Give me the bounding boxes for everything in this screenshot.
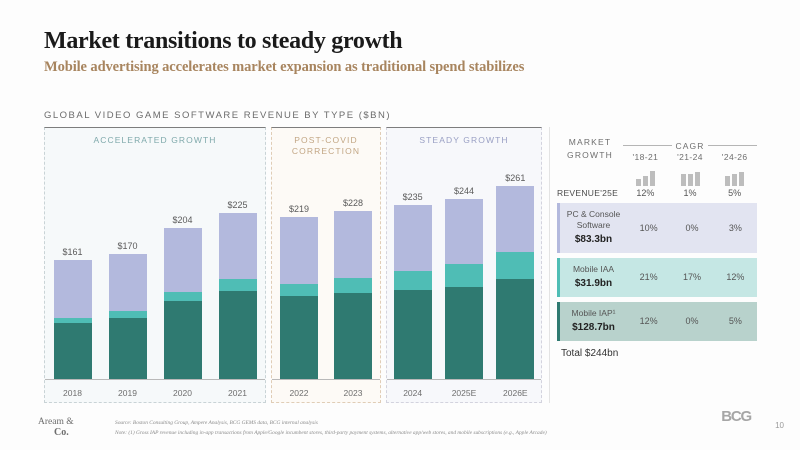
bar-segment — [219, 213, 257, 279]
cagr-period: '24-26 — [712, 152, 757, 162]
cagr-title: CAGR — [676, 141, 705, 151]
bar-group: $170 — [100, 174, 155, 380]
rule-left — [623, 145, 672, 146]
row-cagr-value: 21% — [627, 272, 670, 282]
footnotes: Source: Boston Consulting Group, Ampere … — [115, 418, 715, 438]
bar-segment — [280, 217, 318, 284]
x-axis-tick: 2018 — [45, 388, 100, 398]
revenue-values: 12%1%5% — [623, 188, 757, 198]
plot-area-3: $235$244$261 — [387, 174, 541, 380]
bar-segment — [394, 290, 432, 380]
bar-group: $235 — [387, 174, 438, 380]
phase-label: POST-COVID CORRECTION — [272, 135, 380, 158]
row-cagr-value: 17% — [670, 272, 713, 282]
stacked-bar — [394, 205, 432, 380]
table-row[interactable]: PC & ConsoleSoftware$83.3bn10%0%3% — [557, 203, 757, 253]
axis-line-3 — [387, 379, 541, 380]
cagr-period-columns: '18-21'21-24'24-26 — [623, 152, 757, 162]
plot-area-2: $219$228 — [272, 174, 380, 380]
phase-panel-accelerated-growth: ACCELERATED GROWTH $161$170$204$225 2018… — [44, 127, 266, 403]
table-total: Total $244bn — [557, 348, 757, 359]
phase-label: ACCELERATED GROWTH — [45, 135, 265, 146]
bar-segment — [496, 186, 534, 252]
table-header: MARKET GROWTH CAGR '18-21'21-24'24-26 — [557, 127, 757, 162]
revenue-value: 5% — [712, 188, 757, 198]
x-axis-2: 20222023 — [272, 388, 380, 398]
source-note: Source: Boston Consulting Group, Ampere … — [115, 418, 715, 428]
stacked-bar — [54, 260, 92, 380]
x-axis-tick: 2021 — [210, 388, 265, 398]
bcg-logo: BCG — [721, 408, 751, 425]
phase-panels: ACCELERATED GROWTH $161$170$204$225 2018… — [44, 127, 542, 403]
chart-title: GLOBAL VIDEO GAME SOFTWARE REVENUE BY TY… — [44, 110, 391, 121]
table-row[interactable]: Mobile IAA$31.9bn21%17%12% — [557, 258, 757, 297]
row-cagr-value: 0% — [670, 223, 713, 233]
x-axis-3: 20242025E2026E — [387, 388, 541, 398]
bar-total-label: $225 — [227, 200, 247, 210]
bar-group: $219 — [272, 174, 326, 380]
bar-group: $204 — [155, 174, 210, 380]
phase-label: STEADY GROWTH — [387, 135, 541, 146]
slide: Market transitions to steady growth Mobi… — [0, 0, 800, 450]
stacked-bar — [109, 254, 147, 380]
bar-segment — [334, 211, 372, 278]
sparkline-cells — [623, 168, 757, 186]
page-number: 10 — [775, 421, 784, 430]
axis-line-1 — [45, 379, 265, 380]
plot-area-1: $161$170$204$225 — [45, 174, 265, 380]
bar-total-label: $228 — [343, 198, 363, 208]
bar-segment — [109, 318, 147, 380]
x-axis-tick: 2020 — [155, 388, 210, 398]
bar-segment — [496, 252, 534, 279]
bar-segment — [219, 279, 257, 291]
slide-header: Market transitions to steady growth Mobi… — [44, 28, 744, 76]
bar-segment — [164, 301, 202, 380]
bar-segment — [54, 323, 92, 380]
cagr-title-row: CAGR — [623, 141, 757, 151]
phase-panel-steady-growth: STEADY GROWTH $235$244$261 20242025E2026… — [386, 127, 542, 403]
stacked-bar-chart: ACCELERATED GROWTH $161$170$204$225 2018… — [44, 127, 542, 403]
rule-right — [708, 145, 757, 146]
bar-group: $244 — [438, 174, 489, 380]
bar-segment — [164, 228, 202, 291]
row-name: Mobile IAP¹$128.7bn — [560, 302, 627, 341]
bar-total-label: $244 — [454, 186, 474, 196]
stacked-bar — [280, 217, 318, 380]
x-axis-1: 2018201920202021 — [45, 388, 265, 398]
aream-logo: Aream & Co. — [38, 418, 74, 438]
bar-total-label: $170 — [117, 241, 137, 251]
revenue-value: 12% — [623, 188, 668, 198]
bar-total-label: $261 — [505, 173, 525, 183]
sparkline-icon — [623, 168, 668, 186]
bar-segment — [496, 279, 534, 380]
revenue-row-label: REVENUE'25E — [557, 188, 623, 198]
bar-segment — [109, 254, 147, 311]
bar-segment — [219, 291, 257, 380]
market-growth-table: MARKET GROWTH CAGR '18-21'21-24'24-26 RE… — [549, 127, 757, 403]
stacked-bar — [445, 199, 483, 380]
table-row[interactable]: Mobile IAP¹$128.7bn12%0%5% — [557, 302, 757, 341]
x-axis-tick: 2026E — [490, 388, 541, 398]
bar-group: $261 — [490, 174, 541, 380]
bar-segment — [54, 260, 92, 317]
row-name: PC & ConsoleSoftware$83.3bn — [560, 203, 627, 253]
cagr-period: '21-24 — [668, 152, 713, 162]
revenue-value: 1% — [668, 188, 713, 198]
row-name: Mobile IAA$31.9bn — [560, 258, 627, 297]
sparkline-icon — [668, 168, 713, 186]
bar-total-label: $219 — [289, 204, 309, 214]
sparkline-row — [557, 168, 757, 186]
bar-segment — [334, 293, 372, 380]
table-header-label: MARKET GROWTH — [557, 136, 623, 162]
table-body: PC & ConsoleSoftware$83.3bn10%0%3%Mobile… — [557, 203, 757, 341]
page-subtitle: Mobile advertising accelerates market ex… — [44, 59, 744, 76]
row-cagr-value: 5% — [714, 316, 757, 326]
bar-total-label: $204 — [172, 215, 192, 225]
x-axis-tick: 2022 — [272, 388, 326, 398]
row-cagr-value: 0% — [670, 316, 713, 326]
stacked-bar — [219, 213, 257, 380]
bar-segment — [445, 287, 483, 380]
x-axis-tick: 2023 — [326, 388, 380, 398]
bar-segment — [394, 205, 432, 270]
axis-line-2 — [272, 379, 380, 380]
bar-segment — [445, 199, 483, 264]
bar-total-label: $235 — [403, 192, 423, 202]
phase-panel-post-covid-correction: POST-COVID CORRECTION $219$228 20222023 — [271, 127, 381, 403]
x-axis-tick: 2024 — [387, 388, 438, 398]
revenue-row: REVENUE'25E 12%1%5% — [557, 188, 757, 198]
bar-segment — [445, 264, 483, 287]
row-cagr-value: 12% — [627, 316, 670, 326]
stacked-bar — [164, 228, 202, 380]
x-axis-tick: 2019 — [100, 388, 155, 398]
sparkline-icon — [712, 168, 757, 186]
row-cagr-value: 10% — [627, 223, 670, 233]
row-cagr-value: 3% — [714, 223, 757, 233]
definition-note: Note: (1) Gross IAP revenue including in… — [115, 428, 715, 438]
page-title: Market transitions to steady growth — [44, 28, 744, 55]
cagr-header: CAGR '18-21'21-24'24-26 — [623, 141, 757, 162]
stacked-bar — [496, 186, 534, 380]
bar-total-label: $161 — [62, 247, 82, 257]
row-cagr-value: 12% — [714, 272, 757, 282]
x-axis-tick: 2025E — [438, 388, 489, 398]
bar-group: $225 — [210, 174, 265, 380]
bar-segment — [280, 284, 318, 296]
bar-group: $228 — [326, 174, 380, 380]
bar-segment — [280, 296, 318, 380]
stacked-bar — [334, 211, 372, 380]
bar-segment — [109, 311, 147, 318]
bar-segment — [394, 271, 432, 290]
bar-segment — [164, 292, 202, 302]
cagr-period: '18-21 — [623, 152, 668, 162]
bar-segment — [334, 278, 372, 294]
bar-group: $161 — [45, 174, 100, 380]
